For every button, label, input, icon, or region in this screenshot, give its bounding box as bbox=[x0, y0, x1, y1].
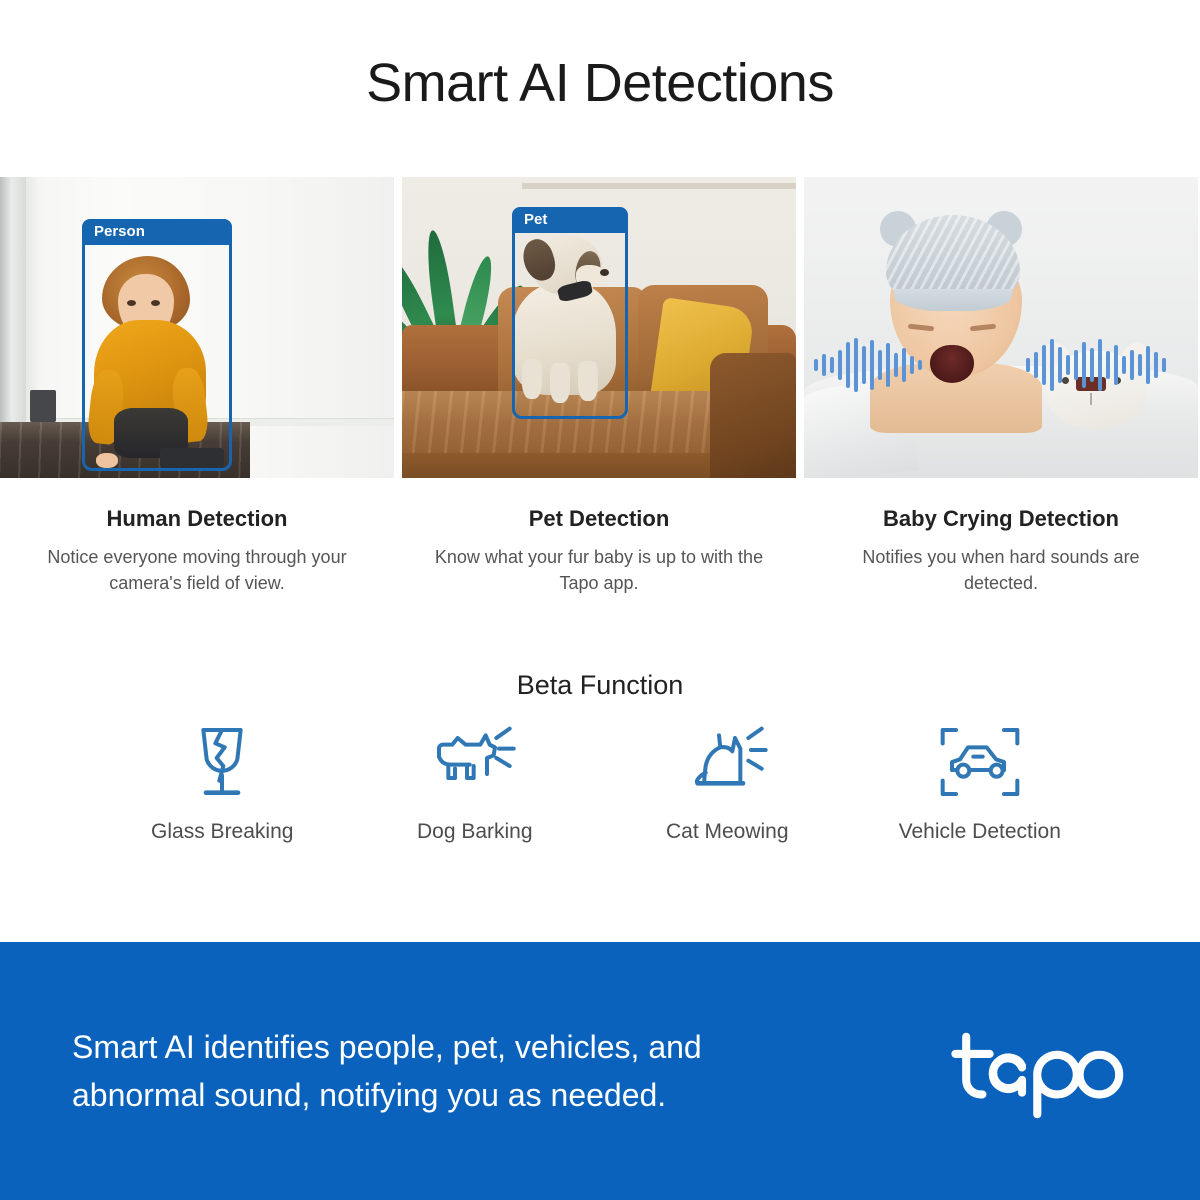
page-title: Smart AI Detections bbox=[0, 52, 1200, 114]
detection-card-pet: Pet Pet Detection Know what your fur bab… bbox=[402, 177, 796, 596]
bottom-banner: Smart AI identifies people, pet, vehicle… bbox=[0, 942, 1200, 1200]
marketing-page: Smart AI Detections bbox=[0, 0, 1200, 1200]
banner-tagline: Smart AI identifies people, pet, vehicle… bbox=[72, 1023, 832, 1119]
sound-waveform-left bbox=[814, 337, 922, 393]
sofa-armrest bbox=[710, 353, 796, 478]
detection-card-human: Person Human Detection Notice everyone m… bbox=[0, 177, 394, 596]
beta-label-dog-barking: Dog Barking bbox=[417, 820, 533, 844]
detection-card-baby-crying: Baby Crying Detection Notifies you when … bbox=[804, 177, 1198, 596]
teddy-mouth-line bbox=[1090, 393, 1092, 405]
beta-function-row: Glass Breaking Dog Barking bbox=[96, 722, 1106, 844]
detection-box-pet: Pet bbox=[512, 207, 628, 419]
detection-label-person: Person bbox=[82, 219, 232, 245]
card-title-baby-crying: Baby Crying Detection bbox=[804, 506, 1198, 532]
photo-baby-crying-detection bbox=[804, 177, 1198, 478]
detection-label-pet: Pet bbox=[512, 207, 628, 233]
beta-label-vehicle-detection: Vehicle Detection bbox=[899, 820, 1061, 844]
card-desc-human: Notice everyone moving through your came… bbox=[0, 544, 394, 596]
tapo-logo: tapo bbox=[950, 1023, 1130, 1119]
beta-function-heading: Beta Function bbox=[0, 670, 1200, 701]
beta-item-cat-meowing[interactable]: Cat Meowing bbox=[601, 722, 854, 844]
cat-meowing-icon bbox=[681, 722, 773, 802]
dog-barking-icon bbox=[429, 722, 521, 802]
beta-item-dog-barking[interactable]: Dog Barking bbox=[349, 722, 602, 844]
beta-item-vehicle-detection[interactable]: Vehicle Detection bbox=[854, 722, 1107, 844]
card-title-pet: Pet Detection bbox=[402, 506, 796, 532]
tapo-wordmark-text: tapo bbox=[950, 1023, 978, 1028]
card-desc-pet: Know what your fur baby is up to with th… bbox=[402, 544, 796, 596]
beta-item-glass-breaking[interactable]: Glass Breaking bbox=[96, 722, 349, 844]
detection-box-person: Person bbox=[82, 219, 232, 471]
photo-pet-detection: Pet bbox=[402, 177, 796, 478]
photo-human-detection: Person bbox=[0, 177, 394, 478]
beta-label-cat-meowing: Cat Meowing bbox=[666, 820, 789, 844]
floor-object bbox=[30, 390, 56, 422]
baby-open-mouth bbox=[930, 345, 974, 383]
wall-trim bbox=[522, 183, 796, 189]
broken-glass-icon bbox=[176, 722, 268, 802]
beta-label-glass-breaking: Glass Breaking bbox=[151, 820, 293, 844]
card-title-human: Human Detection bbox=[0, 506, 394, 532]
vehicle-detection-icon bbox=[934, 722, 1026, 802]
sound-waveform-right bbox=[1026, 337, 1166, 393]
detection-cards-row: Person Human Detection Notice everyone m… bbox=[0, 177, 1200, 596]
card-desc-baby-crying: Notifies you when hard sounds are detect… bbox=[804, 544, 1198, 596]
